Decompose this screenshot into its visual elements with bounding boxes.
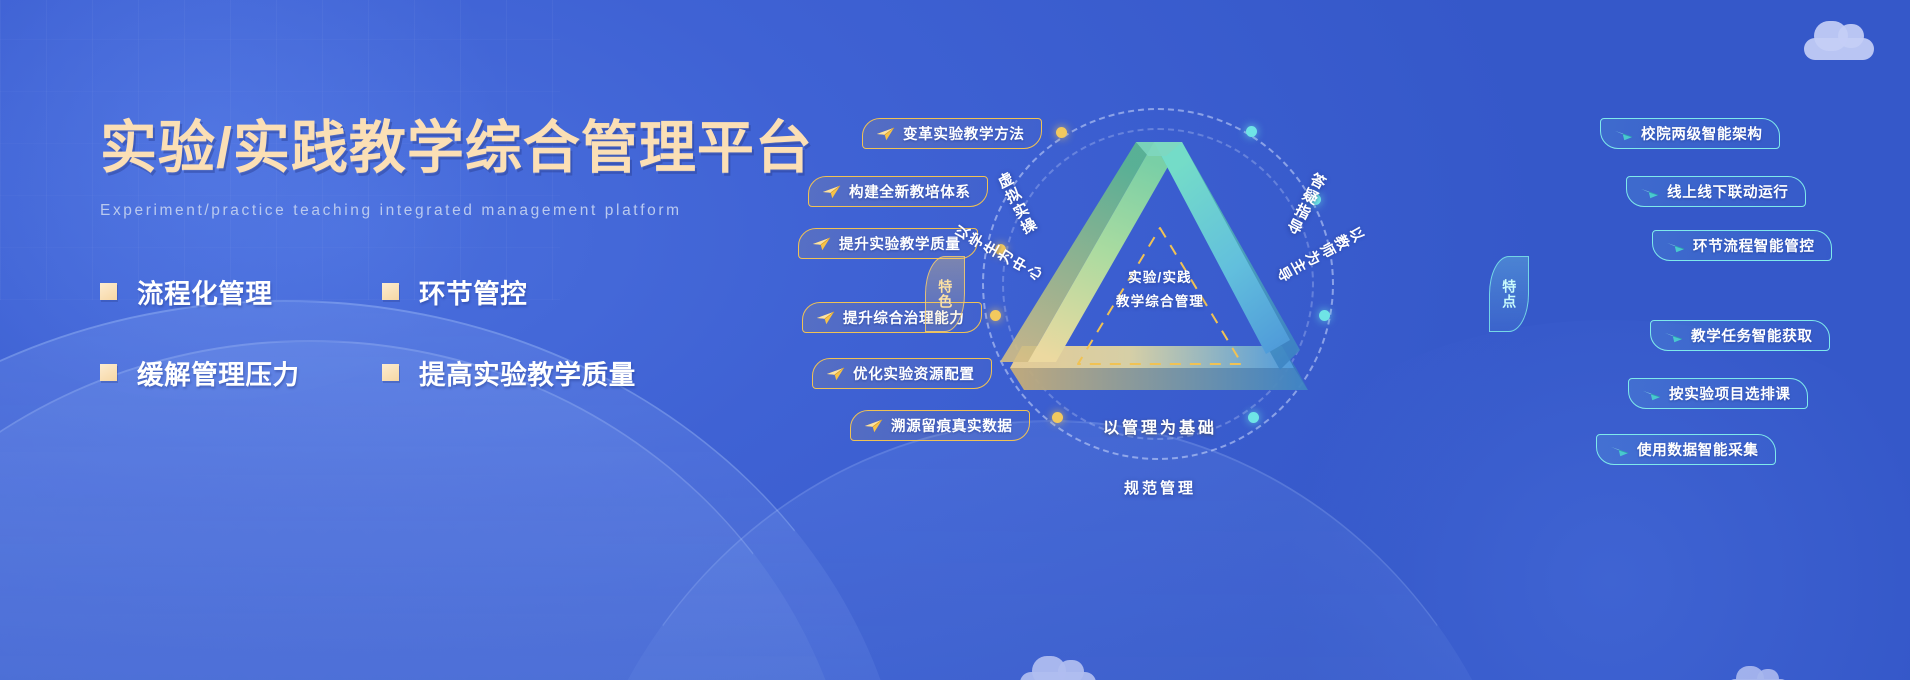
bullet-square-icon bbox=[100, 283, 117, 300]
status-badge-right: 特点 bbox=[1489, 256, 1529, 332]
cloud-icon bbox=[1020, 654, 1096, 680]
pill-label: 使用数据智能采集 bbox=[1637, 439, 1759, 460]
pill-right-6[interactable]: 使用数据智能采集 bbox=[1596, 434, 1776, 465]
paper-plane-icon bbox=[1642, 387, 1661, 401]
paper-plane-icon bbox=[1664, 329, 1683, 343]
inner-label-line2: 教学综合管理 bbox=[960, 290, 1360, 314]
status-badge-left: 特色 bbox=[925, 256, 965, 332]
paper-plane-icon bbox=[826, 367, 845, 381]
triangle-inner-label: 实验/实践 教学综合管理 bbox=[960, 266, 1360, 313]
bullet-label: 流程化管理 bbox=[137, 272, 273, 311]
badge-label: 特色 bbox=[937, 279, 954, 309]
pill-right-5[interactable]: 按实验项目选排课 bbox=[1628, 378, 1808, 409]
pill-label: 校院两级智能架构 bbox=[1641, 123, 1763, 144]
hero-text-block: 实验/实践教学综合管理平台 Experiment/practice teachi… bbox=[100, 118, 820, 392]
pill-label: 环节流程智能管控 bbox=[1693, 235, 1815, 256]
pill-right-3[interactable]: 环节流程智能管控 bbox=[1652, 230, 1832, 261]
page-subtitle: Experiment/practice teaching integrated … bbox=[100, 202, 820, 220]
triangle-diagram: 以学生为中心 以教师为主导 以管理为基础 实验/实践 教学综合管理 虚拟实操 答… bbox=[960, 96, 1360, 476]
page-title: 实验/实践教学综合管理平台 bbox=[100, 118, 820, 180]
badge-label: 特点 bbox=[1501, 279, 1518, 309]
paper-plane-icon bbox=[816, 311, 835, 325]
pill-label: 教学任务智能获取 bbox=[1691, 325, 1813, 346]
paper-plane-icon bbox=[876, 127, 895, 141]
list-item: 提高实验教学质量 bbox=[382, 353, 820, 392]
paper-plane-icon bbox=[1610, 443, 1629, 457]
bullet-label: 环节管控 bbox=[419, 272, 527, 311]
cloud-icon bbox=[1804, 18, 1874, 60]
pill-label: 构建全新教培体系 bbox=[849, 181, 971, 202]
triangle-edge-label-bottom: 以管理为基础 bbox=[960, 414, 1360, 438]
pill-label: 按实验项目选排课 bbox=[1669, 383, 1791, 404]
list-item: 缓解管理压力 bbox=[100, 353, 382, 392]
pill-right-4[interactable]: 教学任务智能获取 bbox=[1650, 320, 1830, 351]
pill-right-1[interactable]: 校院两级智能架构 bbox=[1600, 118, 1780, 149]
list-item: 环节管控 bbox=[382, 272, 820, 311]
bullet-label: 提高实验教学质量 bbox=[419, 353, 636, 392]
bullet-square-icon bbox=[100, 364, 117, 381]
paper-plane-icon bbox=[812, 237, 831, 251]
paper-plane-icon bbox=[822, 185, 841, 199]
bullet-square-icon bbox=[382, 283, 399, 300]
pill-label: 线上线下联动运行 bbox=[1667, 181, 1789, 202]
bullet-square-icon bbox=[382, 364, 399, 381]
feature-bullet-list: 流程化管理 环节管控 缓解管理压力 提高实验教学质量 bbox=[100, 272, 820, 392]
paper-plane-icon bbox=[864, 419, 883, 433]
cloud-icon bbox=[1726, 664, 1790, 680]
pill-right-2[interactable]: 线上线下联动运行 bbox=[1626, 176, 1806, 207]
outer-label-bottom: 规范管理 bbox=[960, 477, 1360, 498]
paper-plane-icon bbox=[1640, 185, 1659, 199]
paper-plane-icon bbox=[1666, 239, 1685, 253]
bullet-label: 缓解管理压力 bbox=[137, 353, 300, 392]
pill-left-3[interactable]: 提升实验教学质量 bbox=[798, 228, 978, 259]
paper-plane-icon bbox=[1614, 127, 1633, 141]
pill-label: 提升实验教学质量 bbox=[839, 233, 961, 254]
list-item: 流程化管理 bbox=[100, 272, 382, 311]
pill-label: 优化实验资源配置 bbox=[853, 363, 975, 384]
inner-label-line1: 实验/实践 bbox=[960, 266, 1360, 290]
